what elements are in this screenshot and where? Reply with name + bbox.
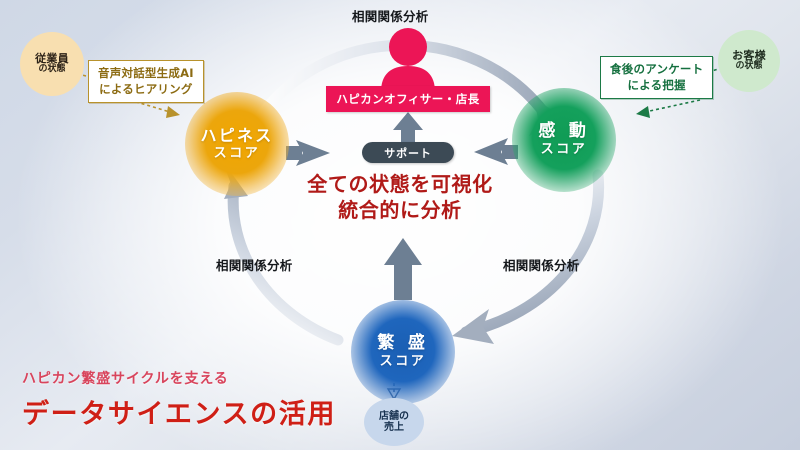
callout-survey-line1: 食後のアンケート [610,62,703,78]
sales-line1: 店舗の [379,411,409,422]
label-correlation-top: 相関関係分析 [352,6,429,25]
customer-line2: の状態 [735,62,762,72]
officer-label-text: ハピカンオフィサー・店長 [336,91,479,107]
callout-voice-line1: 音声対話型生成AI [98,66,194,82]
score-subtitle-prosperity: スコア [380,355,427,369]
sales-line2: 売上 [384,422,404,433]
callout-voice-line2: によるヒアリング [98,82,194,98]
center-headline: 全ての状態を可視化 統合的に分析 [290,172,510,223]
score-subtitle-happiness: スコア [214,147,261,161]
score-title-happiness: ハピネス [201,128,274,145]
support-pill[interactable]: サポート [362,142,454,163]
employee-line2: の状態 [38,65,65,75]
label-correlation-right: 相関関係分析 [503,255,580,274]
callout-survey-line2: による把握 [610,78,703,94]
source-bubble-employee[interactable]: 従業員 の状態 [20,32,84,96]
score-circle-happiness[interactable]: ハピネス スコア [185,92,289,196]
score-subtitle-emotion: スコア [541,143,588,157]
slide-canvas: ハピネス スコア 感 動 スコア 繁 盛 スコア 従業員 の状態 お客様 の状態… [0,0,800,450]
label-correlation-left: 相関関係分析 [216,255,293,274]
score-title-emotion: 感 動 [538,123,589,141]
center-headline-line1: 全ての状態を可視化 [290,172,510,198]
score-circle-emotion[interactable]: 感 動 スコア [512,88,616,192]
center-headline-line2: 統合的に分析 [290,198,510,224]
source-bubble-customer[interactable]: お客様 の状態 [718,30,780,92]
support-pill-text: サポート [384,145,432,161]
slide-title-block: ハピカン繁盛サイクルを支える データサイエンスの活用 [22,368,336,431]
callout-voice-ai[interactable]: 音声対話型生成AI によるヒアリング [88,60,204,103]
source-bubble-sales[interactable]: 店舗の 売上 [364,398,424,446]
callout-survey[interactable]: 食後のアンケート による把握 [600,56,713,99]
score-circle-prosperity[interactable]: 繁 盛 スコア [351,300,455,404]
officer-label-bar[interactable]: ハピカンオフィサー・店長 [326,86,490,112]
score-title-prosperity: 繁 盛 [377,335,428,353]
slide-subtitle: ハピカン繁盛サイクルを支える [22,368,336,388]
slide-main-title: データサイエンスの活用 [22,392,336,431]
